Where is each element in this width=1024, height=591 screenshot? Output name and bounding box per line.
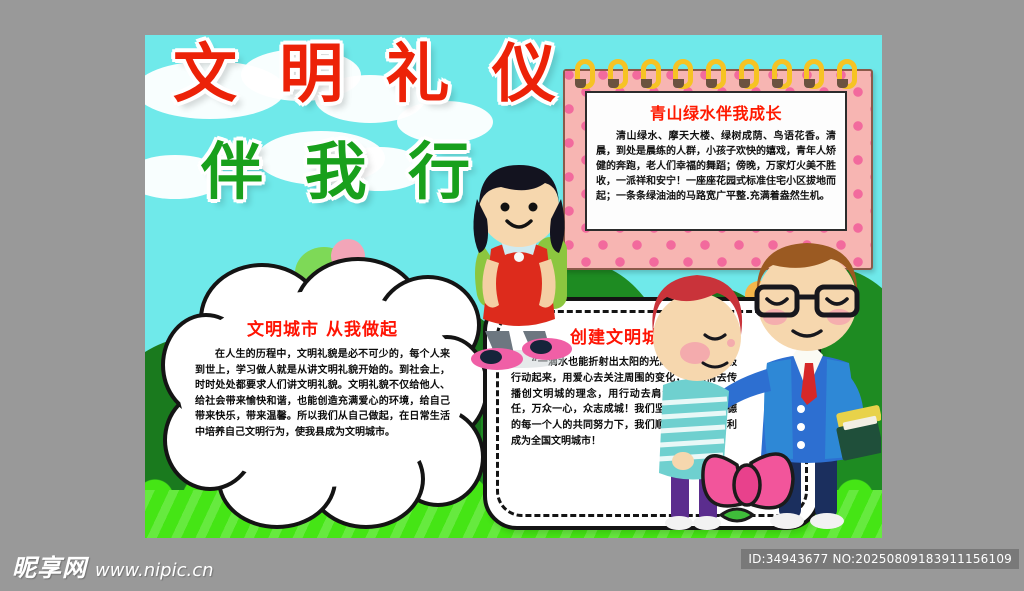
cloud-bubble-body-text: 在人生的历程中，文明礼貌是必不可少的，每个人来到世上，学习做人就是从讲文明礼貌开… [195,347,450,440]
notebook-body-text: 清山绿水、摩天大楼、绿树成荫、鸟语花香。清晨，到处是晨练的人群，小孩子欢快的嬉戏… [596,129,836,204]
cloud-bubble-content: 文明城市 从我做起 在人生的历程中，文明礼貌是必不可少的，每个人来到世上，学习做… [195,315,450,483]
spiral-ring-icon [641,59,661,89]
girl-with-backpack-illustration [461,163,577,373]
poster-artwork: 文 明 礼 仪 伴 我 行 青山绿水伴我成长 清山绿水、摩天大楼、绿树成荫 [145,35,882,538]
cloud-bubble-heading: 文明城市 从我做起 [195,315,450,340]
spiral-ring-icon [673,59,693,89]
spiral-ring-icon [804,59,824,89]
cloud-shape [397,101,493,143]
site-url-label: www.nipic.cn [95,560,214,581]
notebook-heading: 青山绿水伴我成长 [596,100,836,124]
cloud-shape [331,147,427,191]
spiral-ring-icon [772,59,792,89]
cloud-speech-bubble: 文明城市 从我做起 在人生的历程中，文明礼貌是必不可少的，每个人来到世上，学习做… [161,257,481,522]
boy-and-child-illustration [641,213,881,533]
spiral-ring-icon [575,59,595,89]
site-watermark: 昵享网 www.nipic.cn [12,548,214,583]
spiral-ring-icon [608,59,628,89]
notebook-spiral-binding [575,59,857,91]
notebook-text-area: 青山绿水伴我成长 清山绿水、摩天大楼、绿树成荫、鸟语花香。清晨，到处是晨练的人群… [585,91,847,231]
screenshot-canvas: 文 明 礼 仪 伴 我 行 青山绿水伴我成长 清山绿水、摩天大楼、绿树成荫 [0,0,1024,591]
site-name-label: 昵享网 [12,548,87,583]
spiral-ring-icon [739,59,759,89]
cloud-shape [145,155,225,199]
spiral-ring-icon [837,59,857,89]
spiral-ring-icon [706,59,726,89]
image-id-badge: ID:34943677 NO:20250809183911156109 [741,549,1019,569]
